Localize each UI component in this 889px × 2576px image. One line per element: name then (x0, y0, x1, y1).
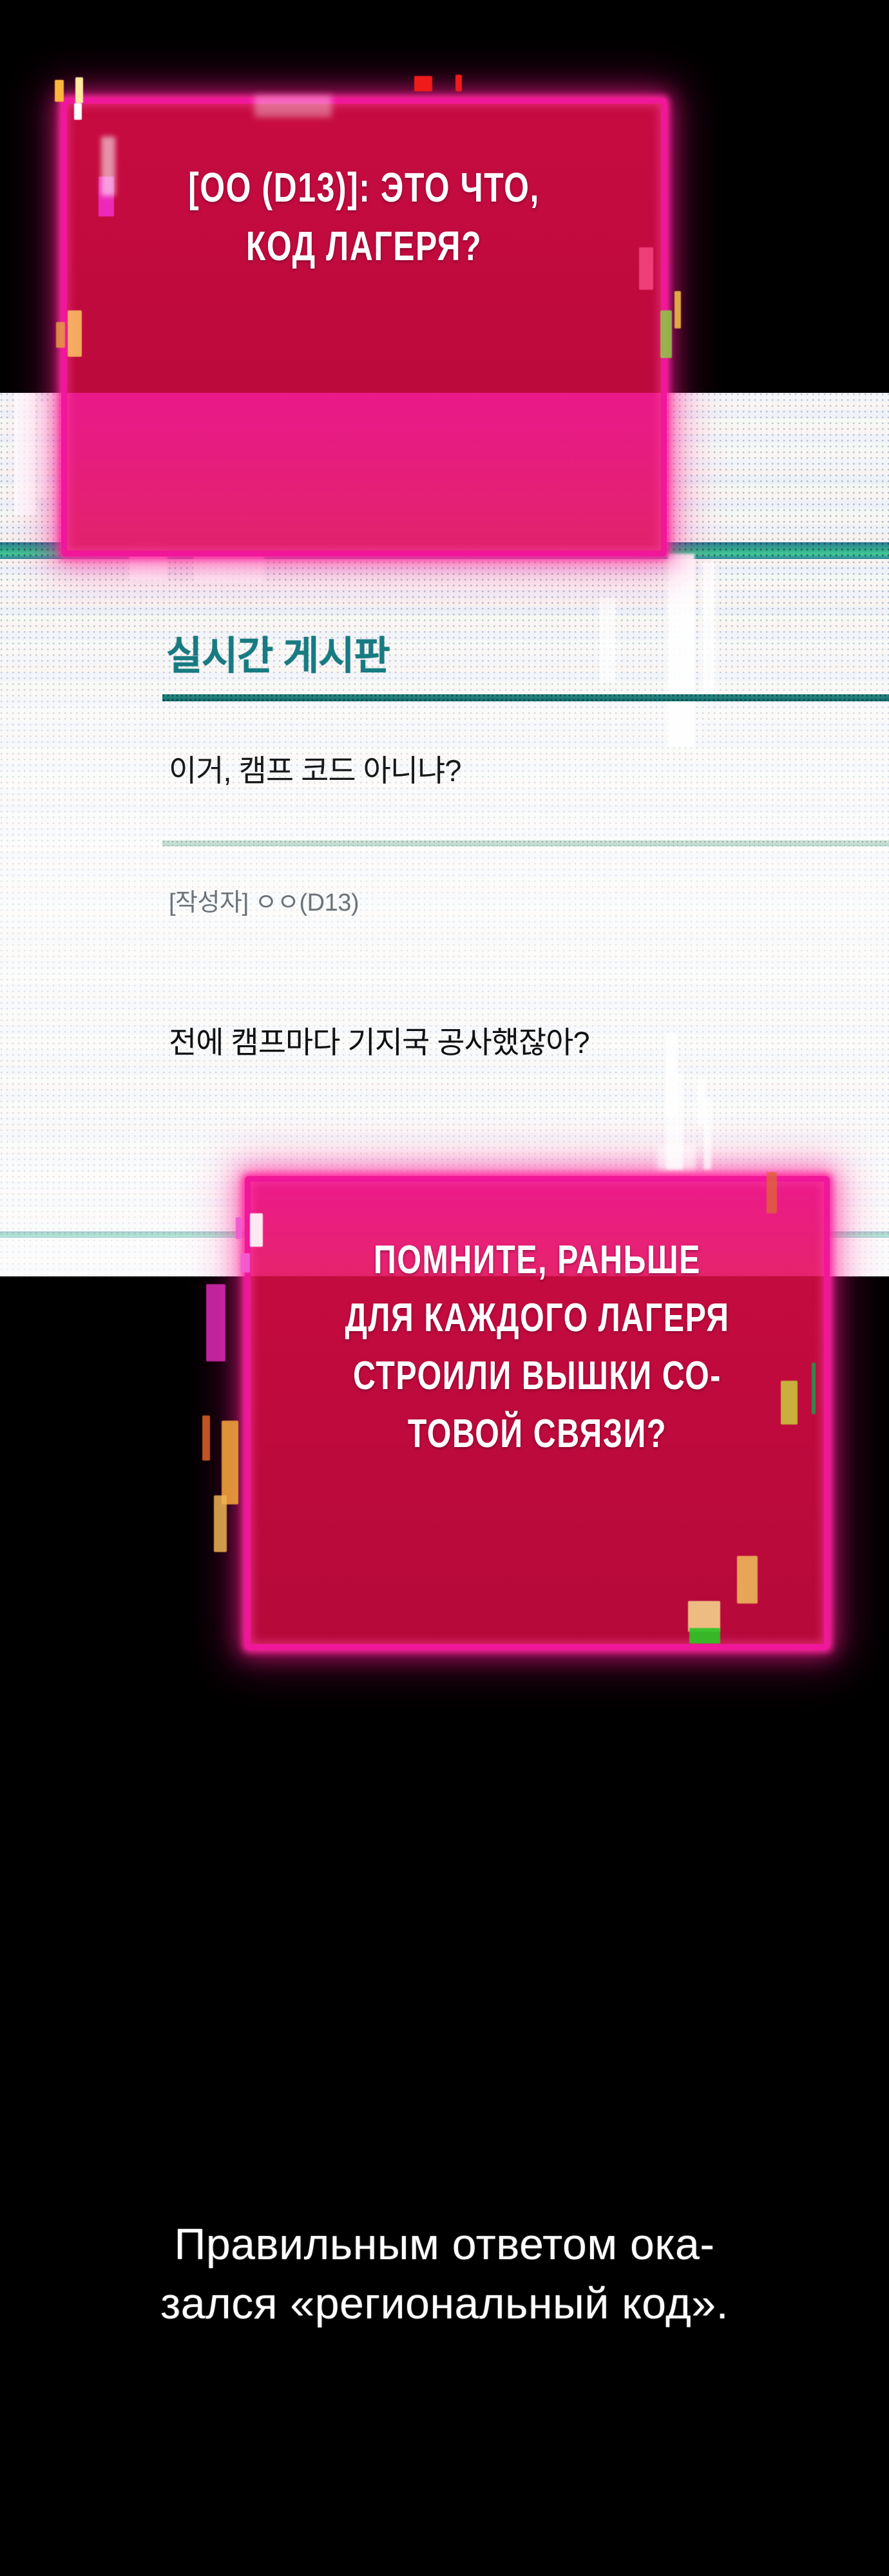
glitch-chip (222, 1421, 238, 1504)
speech-bubble-top: [OO (D13)]: ЭТО ЧТО, КОД ЛАГЕРЯ? (61, 98, 667, 556)
post-title[interactable]: 이거, 캠프 코드 아니냐? (169, 746, 461, 790)
glitch-chip (254, 95, 332, 117)
post-author: [작성자] ㅇㅇ(D13) (169, 882, 359, 918)
post-divider (162, 840, 889, 846)
glitch-chip (767, 1172, 777, 1213)
glitch-chip (455, 75, 462, 91)
glitch-chip (202, 1416, 210, 1461)
glitch-chip (812, 1363, 816, 1414)
bubble-top-text: [OO (D13)]: ЭТО ЧТО, КОД ЛАГЕРЯ? (128, 158, 600, 276)
glitch-chip (674, 291, 681, 328)
glitch-chip (703, 1099, 711, 1170)
glitch-chip (689, 1628, 720, 1643)
narration-caption: Правильным ответом ока- зался «региональ… (0, 2215, 889, 2334)
glitch-chip (250, 1213, 263, 1247)
glitch-chip (101, 137, 115, 196)
glitch-chip (214, 1495, 227, 1552)
glitch-chip (666, 1073, 683, 1170)
glitch-chip (236, 1217, 242, 1239)
glitch-chip (68, 310, 82, 357)
glitch-chip (75, 77, 83, 103)
glitch-chip (55, 80, 64, 102)
glitch-chip (737, 1556, 758, 1604)
post-body: 전에 캠프마다 기지국 공사했잖아? (169, 1018, 589, 1062)
bubble-bottom-text: ПОМНИТЕ, РАНЬШЕ ДЛЯ КАЖДОГО ЛАГЕРЯ СТРОИ… (309, 1231, 765, 1463)
board-title: 실시간 게시판 (166, 623, 390, 681)
board-title-divider (162, 694, 889, 701)
glitch-chip (660, 310, 672, 358)
glitch-chip (688, 1601, 720, 1632)
glitch-chip (781, 1381, 798, 1425)
glitch-chip (639, 247, 653, 290)
glitch-chip (414, 76, 432, 91)
speech-bubble-bottom: ПОМНИТЕ, РАНЬШЕ ДЛЯ КАЖДОГО ЛАГЕРЯ СТРОИ… (245, 1176, 830, 1650)
glitch-chip (74, 103, 82, 120)
glitch-chip (241, 1253, 250, 1273)
glitch-chip (56, 322, 65, 348)
glitch-chip (206, 1284, 225, 1361)
